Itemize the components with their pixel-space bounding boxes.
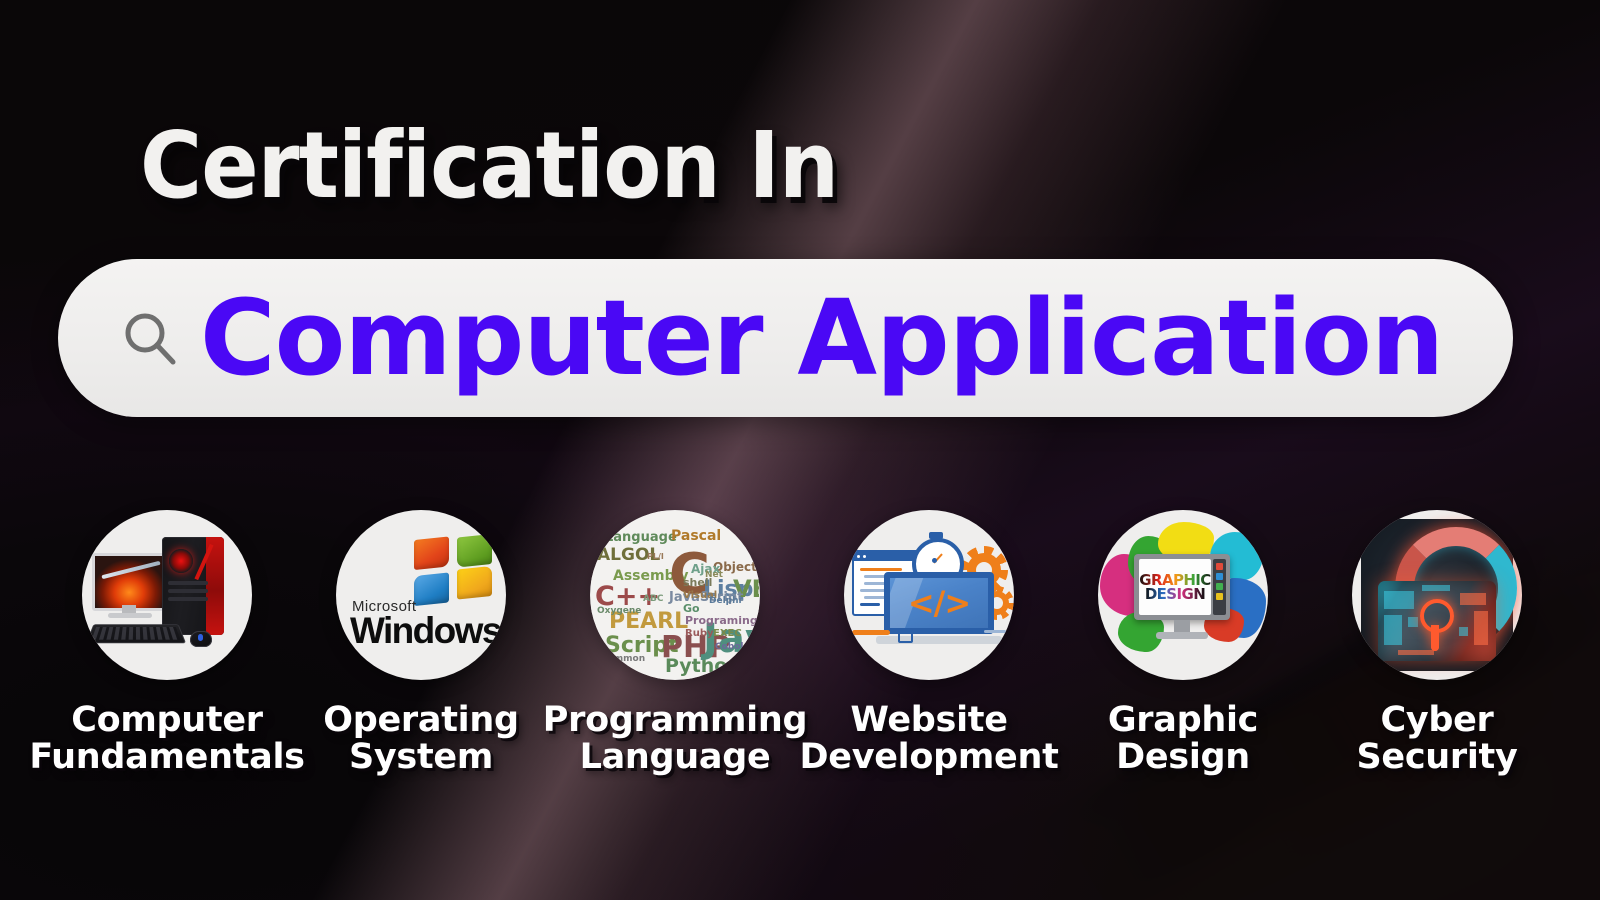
category-cyber-security[interactable]: Cyber Security — [1322, 510, 1552, 776]
microsoft-windows-icon: Microsoft Windows — [336, 510, 506, 680]
category-website-development[interactable]: </> Website Development — [814, 510, 1044, 776]
windows-wordmark: Windows — [350, 610, 501, 652]
category-graphic-design[interactable]: GRAPHIC DESIGN Graphic Design — [1068, 510, 1298, 776]
page-title: Certification In — [140, 120, 838, 212]
search-bar[interactable]: Computer Application — [58, 259, 1513, 417]
wordcloud-word: Ruby — [685, 629, 714, 639]
programming-wordcloud-icon: LanguagePascalALGOLAssemblyC++CPEARLScri… — [590, 510, 760, 680]
category-label: Programming Language — [543, 702, 808, 776]
category-label: Website Development — [800, 702, 1059, 776]
cyber-security-lock-icon — [1352, 510, 1522, 680]
category-label: Cyber Security — [1356, 702, 1517, 776]
search-input[interactable]: Computer Application — [200, 286, 1443, 390]
wordcloud: LanguagePascalALGOLAssemblyC++CPEARLScri… — [591, 511, 759, 679]
category-label: Operating System — [323, 702, 518, 776]
wordcloud-word: Cobol — [715, 643, 744, 652]
category-row: Computer Fundamentals Microsoft Windows … — [52, 510, 1552, 776]
wordcloud-word: Net — [705, 571, 723, 580]
category-label: Graphic Design — [1108, 702, 1258, 776]
wordcloud-word: Go — [683, 603, 700, 614]
category-label: Computer Fundamentals — [29, 702, 304, 776]
certification-banner: E R T Y U I D F G H J A Q W E — [0, 0, 1600, 900]
web-development-icon: </> — [844, 510, 1014, 680]
wordcloud-word: Pascal — [671, 529, 721, 543]
wordcloud-word: Delphi — [709, 597, 742, 606]
wordcloud-word: Language — [605, 531, 677, 544]
wordcloud-word: PL/I — [647, 553, 664, 561]
category-programming-language[interactable]: LanguagePascalALGOLAssemblyC++CPEARLScri… — [560, 510, 790, 776]
category-computer-fundamentals[interactable]: Computer Fundamentals — [52, 510, 282, 776]
wordcloud-word: ABC — [643, 595, 663, 604]
wordcloud-word: Programing — [685, 615, 758, 626]
desktop-computer-icon — [82, 510, 252, 680]
code-symbol: </> — [908, 584, 970, 622]
wordcloud-word: EXEC — [713, 629, 742, 639]
graphic-design-screen-line2: DESIGN — [1145, 587, 1205, 601]
wordcloud-word: Common — [601, 655, 645, 664]
graphic-design-icon: GRAPHIC DESIGN — [1098, 510, 1268, 680]
search-icon — [118, 306, 182, 375]
wordcloud-word: Oxygene — [597, 607, 641, 616]
category-operating-system[interactable]: Microsoft Windows Operating System — [306, 510, 536, 776]
